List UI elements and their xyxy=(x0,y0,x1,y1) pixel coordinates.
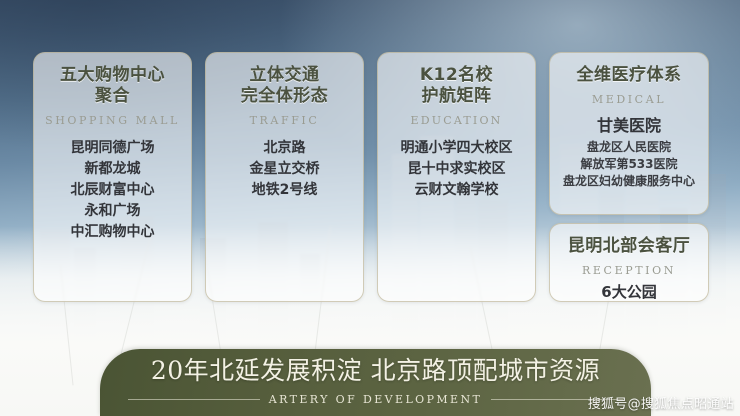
card-reception-title: 昆明北部会客厅 xyxy=(556,236,702,257)
list-item: 北京路 xyxy=(212,138,357,159)
list-item: 明通小学四大校区 xyxy=(384,138,529,159)
list-item: 新都龙城 xyxy=(40,159,185,180)
card-traffic[interactable]: 立体交通 完全体形态 TRAFFIC 北京路 金星立交桥 地铁2号线 xyxy=(205,52,364,302)
banner-rule-left xyxy=(128,399,260,400)
banner-headline: 20年北延发展积淀 北京路顶配城市资源 xyxy=(100,354,651,387)
card-medical-subtitle: MEDICAL xyxy=(556,93,702,106)
list-item: 北辰财富中心 xyxy=(40,180,185,201)
card-education-subtitle: EDUCATION xyxy=(384,114,529,127)
card-shopping-items: 昆明同德广场 新都龙城 北辰财富中心 永和广场 中汇购物中心 xyxy=(40,138,185,243)
banner-subtitle: ARTERY OF DEVELOPMENT xyxy=(269,393,482,406)
card-shopping-subtitle: SHOPPING MALL xyxy=(40,114,185,127)
card-medical[interactable]: 全维医疗体系 MEDICAL 甘美医院 盘龙区人民医院 解放军第533医院 盘龙… xyxy=(549,52,709,215)
list-item: 云财文翰学校 xyxy=(384,180,529,201)
card-medical-lead: 甘美医院 xyxy=(556,115,702,136)
card-shopping-title: 五大购物中心 聚合 xyxy=(40,65,185,107)
card-shopping[interactable]: 五大购物中心 聚合 SHOPPING MALL 昆明同德广场 新都龙城 北辰财富… xyxy=(33,52,192,302)
list-item: 昆明同德广场 xyxy=(40,138,185,159)
slide-root: 五大购物中心 聚合 SHOPPING MALL 昆明同德广场 新都龙城 北辰财富… xyxy=(0,0,740,416)
card-traffic-title: 立体交通 完全体形态 xyxy=(212,65,357,107)
bottom-banner: 20年北延发展积淀 北京路顶配城市资源 ARTERY OF DEVELOPMEN… xyxy=(100,349,651,416)
banner-subline: ARTERY OF DEVELOPMENT xyxy=(128,393,623,406)
watermark: 搜狐号@搜狐焦点昭通站 xyxy=(588,393,734,412)
card-medical-items: 盘龙区人民医院 解放军第533医院 盘龙区妇幼健康服务中心 xyxy=(556,139,702,190)
card-traffic-subtitle: TRAFFIC xyxy=(212,114,357,127)
card-traffic-items: 北京路 金星立交桥 地铁2号线 xyxy=(212,138,357,201)
info-card-row: 五大购物中心 聚合 SHOPPING MALL 昆明同德广场 新都龙城 北辰财富… xyxy=(33,52,709,302)
list-item: 盘龙区妇幼健康服务中心 xyxy=(556,173,702,190)
card-reception[interactable]: 昆明北部会客厅 RECEPTION 6大公园 xyxy=(549,223,709,302)
list-item: 永和广场 xyxy=(40,201,185,222)
list-item: 昆十中求实校区 xyxy=(384,159,529,180)
card-column-shopping: 五大购物中心 聚合 SHOPPING MALL 昆明同德广场 新都龙城 北辰财富… xyxy=(33,52,192,302)
list-item: 盘龙区人民医院 xyxy=(556,139,702,156)
card-column-traffic: 立体交通 完全体形态 TRAFFIC 北京路 金星立交桥 地铁2号线 xyxy=(205,52,364,302)
card-reception-subtitle: RECEPTION xyxy=(556,264,702,277)
list-item: 地铁2号线 xyxy=(212,180,357,201)
card-reception-value: 6大公园 xyxy=(556,281,702,302)
card-education-title: K12名校 护航矩阵 xyxy=(384,65,529,107)
list-item: 中汇购物中心 xyxy=(40,222,185,243)
card-column-education: K12名校 护航矩阵 EDUCATION 明通小学四大校区 昆十中求实校区 云财… xyxy=(377,52,536,302)
list-item: 金星立交桥 xyxy=(212,159,357,180)
list-item: 解放军第533医院 xyxy=(556,156,702,173)
card-education[interactable]: K12名校 护航矩阵 EDUCATION 明通小学四大校区 昆十中求实校区 云财… xyxy=(377,52,536,302)
card-medical-title: 全维医疗体系 xyxy=(556,65,702,86)
card-education-items: 明通小学四大校区 昆十中求实校区 云财文翰学校 xyxy=(384,138,529,201)
card-column-medical-reception: 全维医疗体系 MEDICAL 甘美医院 盘龙区人民医院 解放军第533医院 盘龙… xyxy=(549,52,709,302)
